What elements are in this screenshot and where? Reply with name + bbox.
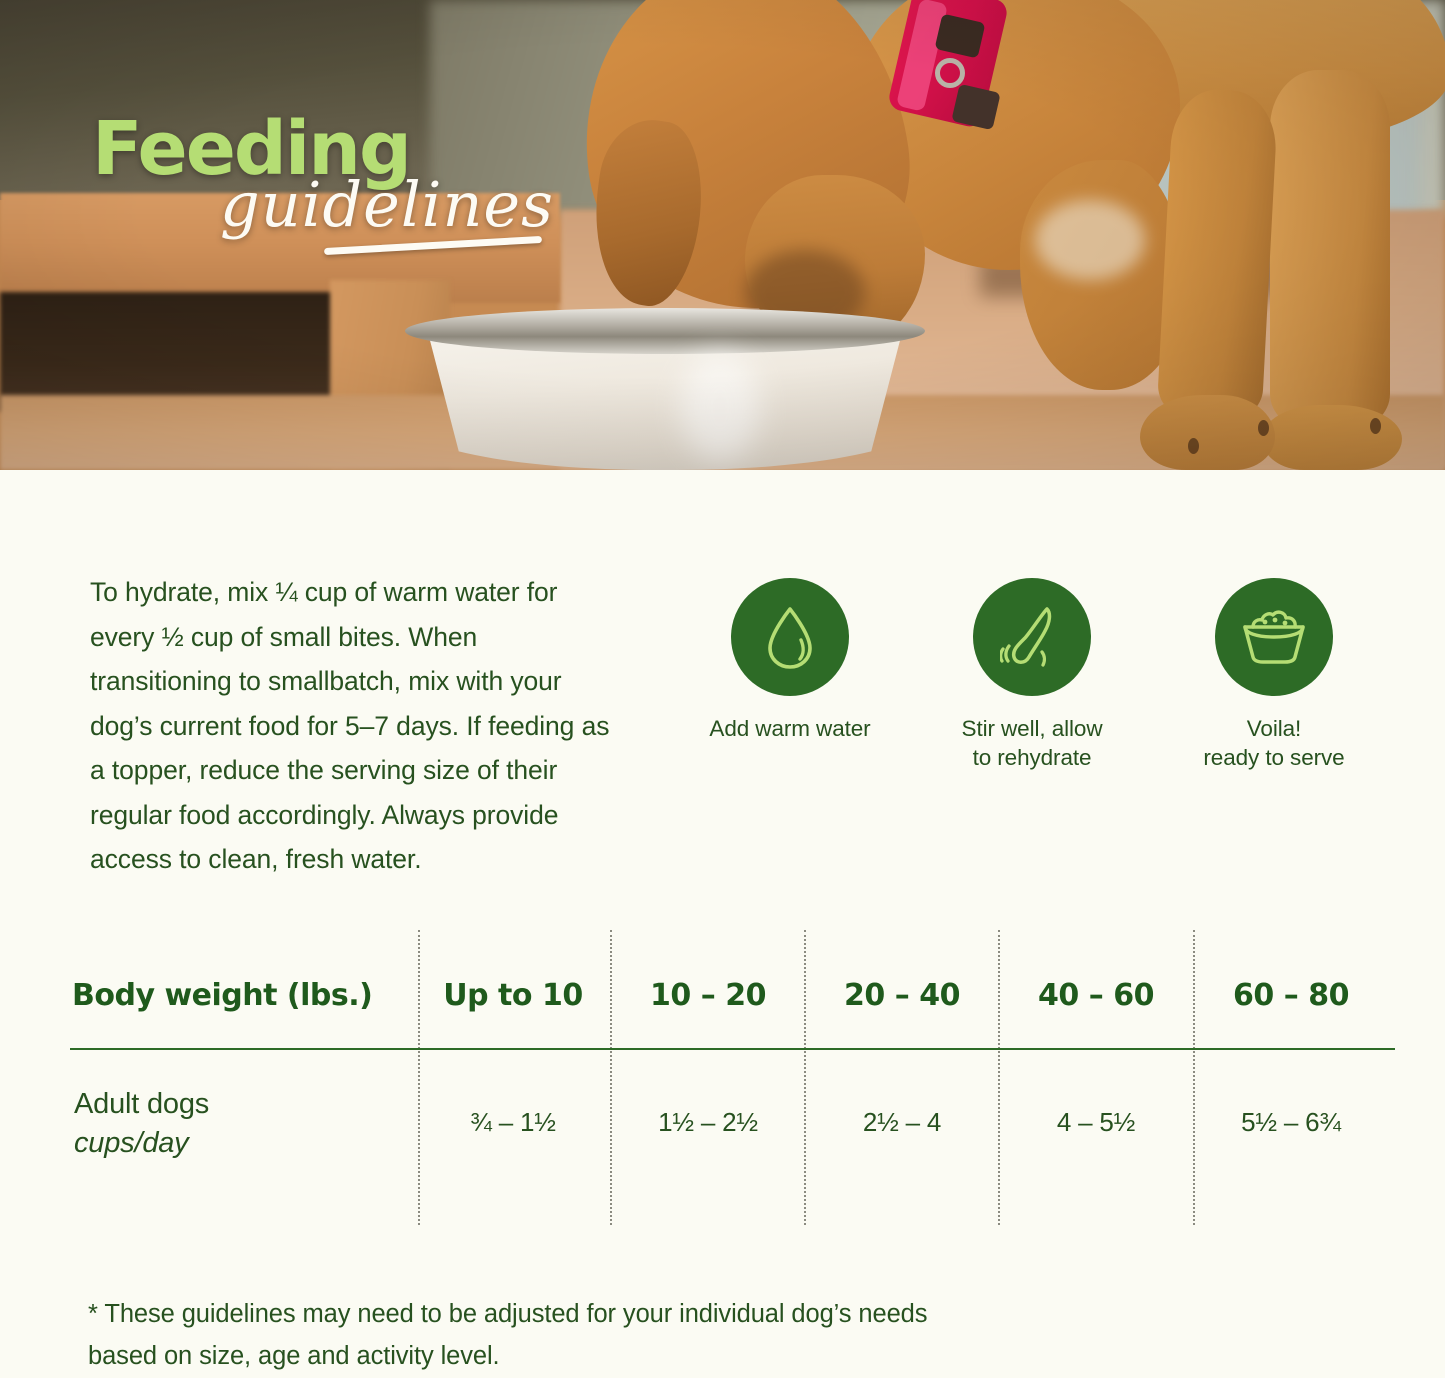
- step-label: Stir well, allowto rehydrate: [962, 714, 1103, 772]
- hero-banner: Feeding guidelines: [0, 0, 1445, 470]
- step-label: Add warm water: [709, 714, 870, 743]
- step-ready-to-serve: Voila!ready to serve: [1184, 578, 1364, 772]
- table-column-header: 60 – 80: [1233, 978, 1349, 1013]
- table-cell: 1½ – 2½: [658, 1107, 758, 1138]
- column-divider: [804, 930, 806, 1225]
- stirring-spoon-icon: [1000, 602, 1064, 672]
- feeding-chart-table: Body weight (lbs.) Up to 10 10 – 20 20 –…: [0, 930, 1445, 1250]
- column-divider: [1193, 930, 1195, 1225]
- preparation-steps: Add warm water Stir well, allowto rehydr…: [700, 578, 1400, 772]
- table-row-unit: cups/day: [74, 1124, 209, 1163]
- table-row-title: Adult dogs: [74, 1088, 209, 1120]
- table-row-label: Adult dogs cups/day: [74, 1085, 209, 1163]
- table-cell: ¾ – 1½: [470, 1107, 556, 1138]
- table-column-header: 10 – 20: [650, 978, 766, 1013]
- step-stir-well: Stir well, allowto rehydrate: [942, 578, 1122, 772]
- column-divider: [998, 930, 1000, 1225]
- step-icon-circle: [973, 578, 1091, 696]
- page-title: Feeding guidelines: [92, 112, 554, 238]
- intro-paragraph: To hydrate, mix ¼ cup of warm water for …: [90, 570, 620, 882]
- page-title-script-wrap: guidelines: [220, 172, 554, 238]
- step-add-warm-water: Add warm water: [700, 578, 880, 772]
- water-drop-icon: [760, 604, 820, 670]
- footnote-text: * These guidelines may need to be adjust…: [88, 1293, 968, 1377]
- table-row-header-label: Body weight (lbs.): [72, 978, 372, 1013]
- step-icon-circle: [731, 578, 849, 696]
- column-divider: [418, 930, 420, 1225]
- food-bowl-icon: [1239, 607, 1309, 667]
- table-column-header: 40 – 60: [1038, 978, 1154, 1013]
- table-column-header: Up to 10: [443, 978, 582, 1013]
- table-header-rule: [70, 1048, 1395, 1050]
- table-cell: 4 – 5½: [1057, 1107, 1135, 1138]
- step-label: Voila!ready to serve: [1203, 714, 1344, 772]
- table-cell: 5½ – 6¾: [1241, 1107, 1341, 1138]
- column-divider: [610, 930, 612, 1225]
- page-title-script: guidelines: [220, 172, 554, 238]
- table-column-header: 20 – 40: [844, 978, 960, 1013]
- feeding-guidelines-page: Feeding guidelines To hydrate, mix ¼ cup…: [0, 0, 1445, 1378]
- step-icon-circle: [1215, 578, 1333, 696]
- table-cell: 2½ – 4: [863, 1107, 941, 1138]
